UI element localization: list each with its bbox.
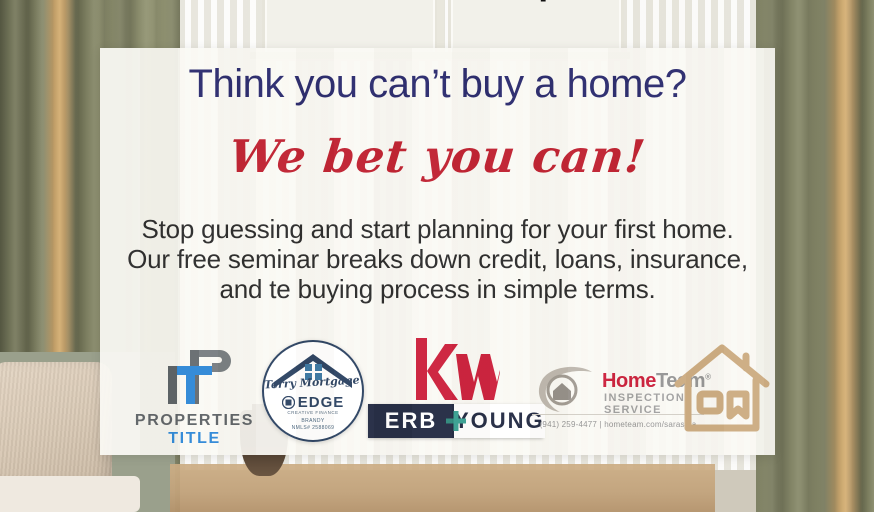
- sofa-seat: [0, 476, 140, 512]
- erb-label: ERB: [385, 408, 437, 434]
- edge-sublabel: CREATIVE FINANCE: [264, 410, 362, 415]
- edge-wordmark: EDGE: [264, 394, 362, 411]
- logo-keller-williams: ERB YOUNG: [368, 338, 543, 446]
- kw-logo-icon: [412, 338, 500, 400]
- logo-properties-title: PROPERTIES TITLE: [112, 346, 277, 446]
- sponsor-logo-row: PROPERTIES TITLE Terry Mortgage Team: [100, 340, 775, 452]
- erb-young-bar: ERB YOUNG: [368, 404, 543, 438]
- properties-title-accent: TITLE: [168, 430, 220, 447]
- page-title: Think you can’t buy a home?: [100, 62, 775, 107]
- properties-title-main: PROPERTIES: [135, 412, 254, 429]
- throw-pillow: [0, 362, 112, 490]
- body-paragraph: Stop guessing and start planning for you…: [126, 214, 749, 304]
- erb-block: ERB: [368, 404, 454, 438]
- tp-monogram-icon: [160, 346, 232, 408]
- nmls-number: NMLS# 2588069: [264, 425, 362, 431]
- edge-label: EDGE: [298, 394, 345, 411]
- flyer-stage: 11:00 am- 1:00 pm Think you can’t buy a …: [0, 0, 874, 512]
- plus-icon: [446, 411, 466, 431]
- logo-terry-mortgage-team: Terry Mortgage Team EDGE CREATIVE FINANC…: [262, 340, 364, 442]
- loan-officer-name: BRANDY: [264, 418, 362, 424]
- swoosh-house-icon: [534, 366, 596, 414]
- hometeam-name-red: Home: [602, 370, 656, 392]
- house-outline-icon: [668, 336, 776, 440]
- script-tagline: We bet you can!: [97, 130, 778, 183]
- properties-title-wordmark: PROPERTIES TITLE: [112, 412, 277, 448]
- edge-circle-icon: [282, 396, 295, 409]
- flyer-card: Think you can’t buy a home? We bet you c…: [100, 48, 775, 455]
